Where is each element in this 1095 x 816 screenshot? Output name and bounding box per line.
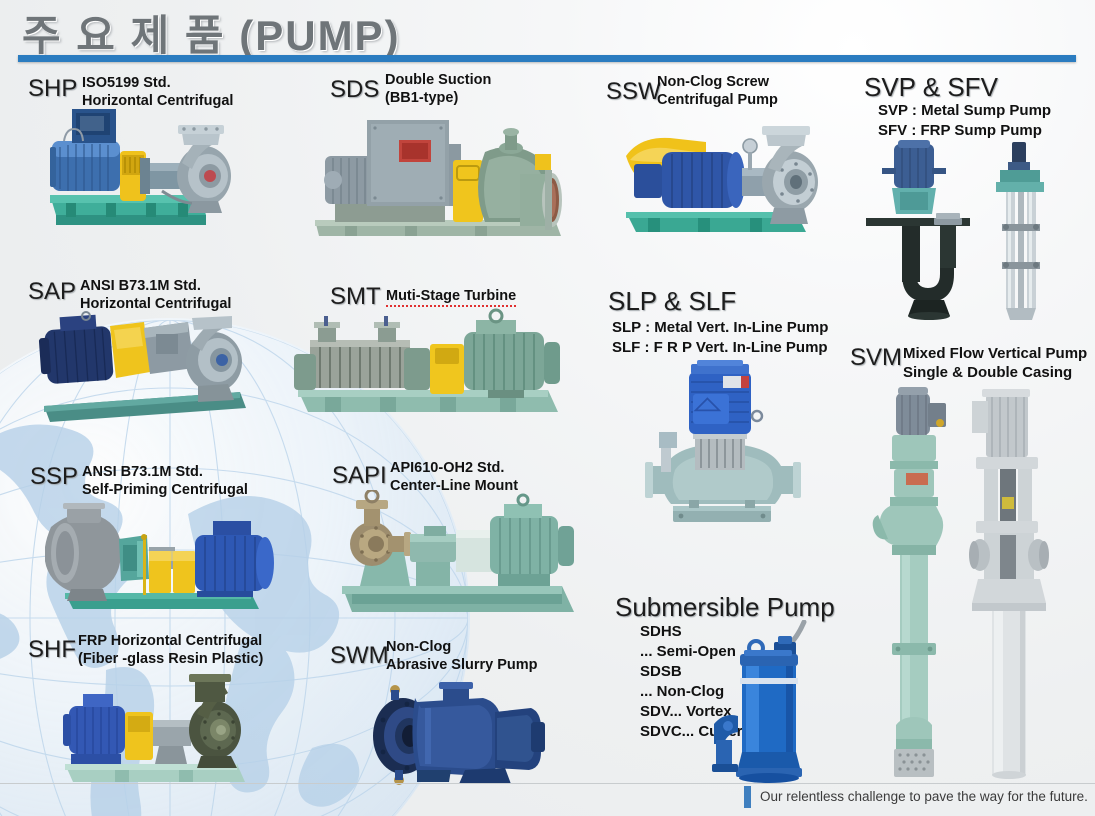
footer-divider — [0, 783, 1095, 784]
slide-canvas: 주 요 제 품 (PUMP) SHP ISO5199 Std. Horizont… — [0, 0, 1095, 816]
product-desc-sap-line1: ANSI B73.1M Std. — [80, 277, 201, 295]
product-desc-svm-line1: Mixed Flow Vertical Pump — [903, 345, 1087, 364]
product-desc-slf: SLF : F R P Vert. In-Line Pump — [612, 339, 828, 358]
product-code-sapi: SAPI — [332, 462, 387, 490]
product-image-swm — [355, 678, 550, 790]
product-desc-sds-line2: (BB1-type) — [385, 89, 458, 107]
product-desc-ssp-line1: ANSI B73.1M Std. — [82, 463, 203, 481]
footer-tagline: Our relentless challenge to pave the way… — [760, 789, 1088, 804]
product-image-sap — [26, 310, 276, 440]
product-image-svp-sfv — [858, 140, 1088, 320]
product-image-ssp — [45, 495, 280, 620]
product-desc-swm-line1: Non-Clog — [386, 638, 451, 656]
product-image-svm — [862, 385, 1092, 785]
product-desc-slp: SLP : Metal Vert. In-Line Pump — [612, 319, 828, 338]
product-code-sds: SDS — [330, 76, 379, 104]
page-title: 주 요 제 품 (PUMP) — [22, 2, 401, 63]
product-image-smt — [280, 304, 570, 424]
product-desc-sapi-line1: API610-OH2 Std. — [390, 459, 504, 477]
product-desc-ssw-line1: Non-Clog Screw — [657, 73, 769, 91]
product-image-submersible — [712, 620, 832, 785]
product-code-ssp: SSP — [30, 463, 78, 491]
submersible-heading: Submersible Pump — [615, 592, 835, 623]
product-code-ssw: SSW — [606, 78, 661, 106]
submersible-line-1: SDHS — [640, 623, 682, 642]
product-code-sap: SAP — [28, 278, 76, 306]
product-desc-svm-line2: Single & Double Casing — [903, 364, 1072, 383]
product-code-swm: SWM — [330, 642, 389, 670]
product-desc-sds-line1: Double Suction — [385, 71, 491, 89]
product-code-shp: SHP — [28, 75, 77, 103]
product-desc-svp: SVP : Metal Sump Pump — [878, 102, 1051, 121]
product-image-shf — [55, 672, 270, 792]
product-desc-ssw-line2: Centrifugal Pump — [657, 91, 778, 109]
title-divider — [18, 55, 1076, 62]
product-image-slp-slf — [645, 358, 825, 533]
product-image-sapi — [330, 490, 580, 620]
product-image-sds — [305, 108, 570, 253]
submersible-line-3: SDSB — [640, 663, 682, 682]
product-code-slp-slf: SLP & SLF — [608, 286, 736, 317]
product-code-shf: SHF — [28, 636, 76, 664]
product-desc-shp-line1: ISO5199 Std. — [82, 74, 171, 92]
product-code-svm: SVM — [850, 344, 902, 372]
product-desc-swm-line2: Abrasive Slurry Pump — [386, 656, 538, 674]
product-desc-shf-line2: (Fiber -glass Resin Plastic) — [78, 650, 263, 668]
product-image-ssw — [600, 108, 840, 248]
footer-accent-bar — [744, 786, 751, 808]
product-image-shp — [22, 103, 272, 253]
product-desc-shf-line1: FRP Horizontal Centrifugal — [78, 632, 262, 650]
product-desc-sfv: SFV : FRP Sump Pump — [878, 122, 1042, 141]
product-code-svp-sfv: SVP & SFV — [864, 72, 998, 103]
